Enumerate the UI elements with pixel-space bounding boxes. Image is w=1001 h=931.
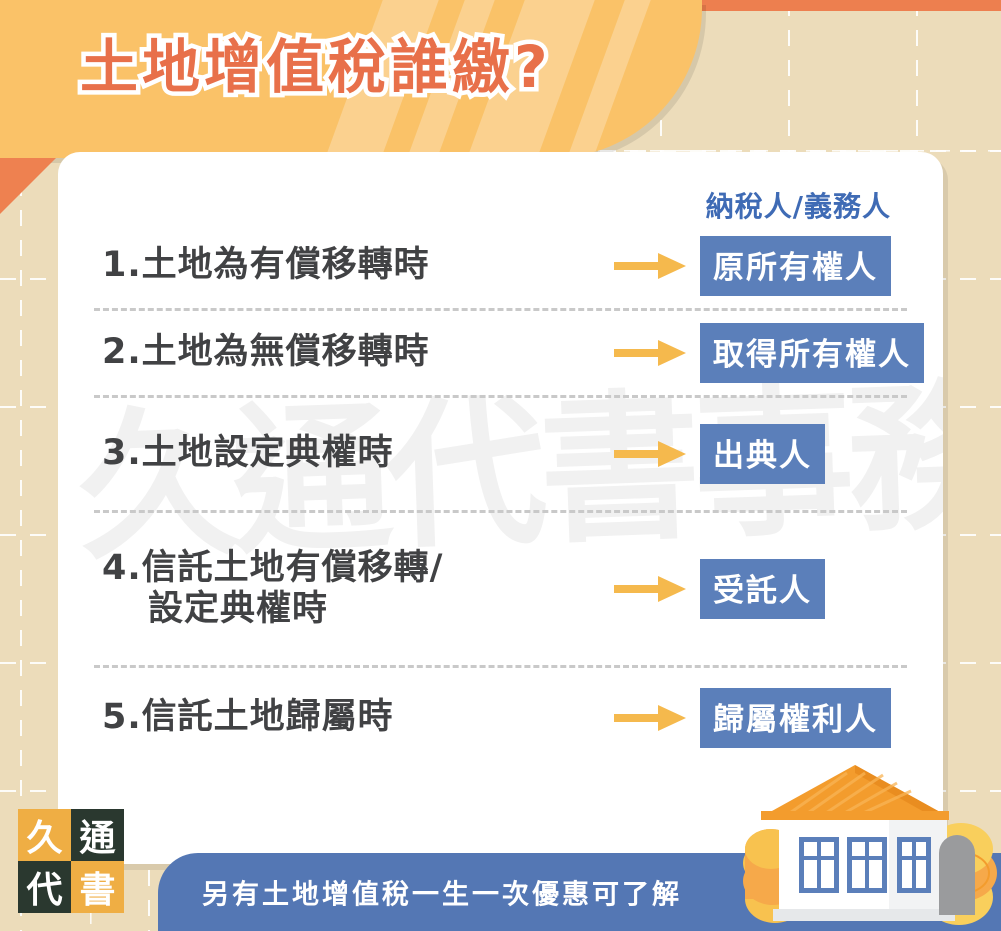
rule-row-4[interactable]: 4.信託土地有償移轉/ 設定典權時 受託人 [58,513,943,665]
payer-cell-1: 原所有權人 [700,236,943,296]
row-divider [94,395,907,398]
banner-corner-fold [0,158,56,214]
rule-condition-5: 5.信託土地歸屬時 [58,697,602,738]
payer-cell-3: 出典人 [700,424,943,484]
status-badge: 歸屬權利人 [700,688,891,748]
arrow-right-icon [602,251,700,281]
rule-condition-text-5: 信託土地歸屬時 [142,697,394,737]
house-window [897,837,931,893]
rule-index-1: 1. [102,245,142,285]
column-header-taxpayer: 納稅人/義務人 [706,185,891,225]
logo-cell-1: 久 [18,809,71,861]
status-badge: 取得所有權人 [700,323,924,383]
rule-row-5[interactable]: 5.信託土地歸屬時 歸屬權利人 [58,668,943,768]
rule-condition-2: 2.土地為無償移轉時 [58,332,602,373]
infographic-canvas: 土地增值稅誰繳? 久通代書事務所 納稅人/義務人 1.土地為有償移轉時 原所有權… [0,0,1001,931]
logo-cell-4: 書 [71,861,124,913]
rule-condition-3: 3.土地設定典權時 [58,433,602,474]
rule-condition-text-4: 信託土地有償移轉/ [142,548,444,588]
brand-logo[interactable]: 久 通 代 書 [18,809,124,909]
rules-list: 1.土地為有償移轉時 原所有權人 2.土地為無償移轉時 [58,224,943,768]
rule-condition-text-4-line2: 設定典權時 [148,589,328,629]
arrow-right-icon [602,338,700,368]
row-divider [94,665,907,668]
rule-condition-1: 1.土地為有償移轉時 [58,245,602,286]
page-title: 土地增值稅誰繳? [80,38,552,96]
status-badge: 出典人 [700,424,825,484]
arrow-right-icon [602,703,700,733]
rule-condition-text-2: 土地為無償移轉時 [142,332,430,372]
house-window [799,837,839,893]
house-window [847,837,887,893]
content-card: 久通代書事務所 納稅人/義務人 1.土地為有償移轉時 原所有權人 [58,152,943,864]
arrow-right-icon [602,574,700,604]
rule-condition-4: 4.信託土地有償移轉/ 設定典權時 [58,548,602,631]
rule-condition-text-1: 土地為有償移轉時 [142,245,430,285]
house-body [761,765,975,921]
rule-condition-text-3: 土地設定典權時 [142,433,394,473]
payer-cell-5: 歸屬權利人 [700,688,943,748]
rule-row-1[interactable]: 1.土地為有償移轉時 原所有權人 [58,224,943,308]
status-badge: 原所有權人 [700,236,891,296]
rule-index-4: 4. [102,548,142,588]
row-divider [94,510,907,513]
status-badge: 受託人 [700,559,825,619]
footer-note: 另有土地增值稅一生一次優惠可了解 [202,873,682,912]
house-door [939,835,975,915]
logo-cell-3: 代 [18,861,71,913]
rule-index-2: 2. [102,332,142,372]
rule-index-3: 3. [102,433,142,473]
house-with-coins-illustration [727,761,999,931]
logo-cell-2: 通 [71,809,124,861]
rule-row-2[interactable]: 2.土地為無償移轉時 取得所有權人 [58,311,943,395]
rule-row-3[interactable]: 3.土地設定典權時 出典人 [58,398,943,510]
arrow-right-icon [602,439,700,469]
payer-cell-4: 受託人 [700,559,943,619]
payer-cell-2: 取得所有權人 [700,323,943,383]
rule-index-5: 5. [102,697,142,737]
row-divider [94,308,907,311]
header-banner: 土地增值稅誰繳? [0,0,702,158]
